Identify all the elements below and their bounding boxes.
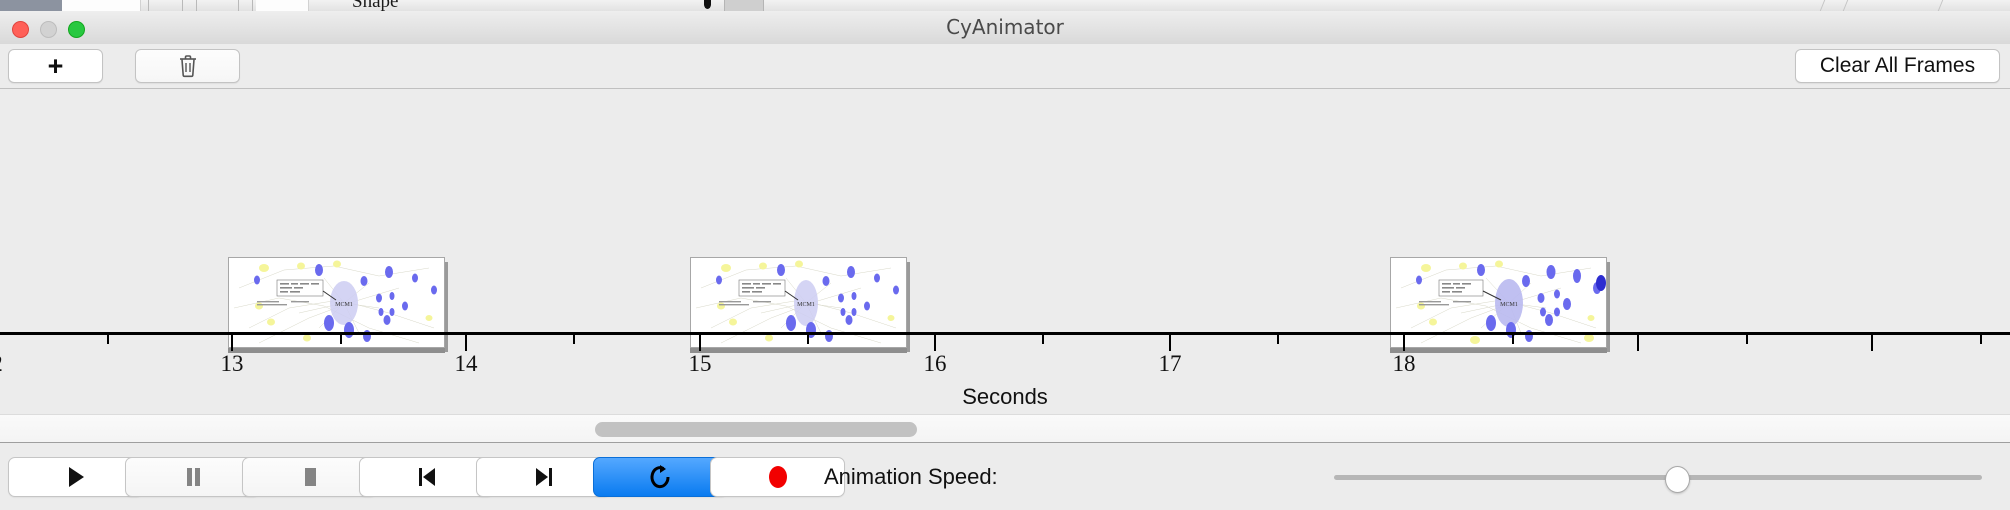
background-selected-tab bbox=[0, 0, 62, 11]
scrollbar-thumb[interactable] bbox=[595, 422, 917, 437]
slider-track[interactable] bbox=[1334, 475, 1982, 480]
ruler-label: 16 bbox=[905, 351, 965, 377]
ruler-tick-minor bbox=[107, 335, 109, 344]
background-panel bbox=[62, 0, 141, 11]
pause-icon bbox=[182, 465, 204, 489]
svg-text:MCM1: MCM1 bbox=[335, 302, 353, 308]
toolbar: + Clear All Frames bbox=[0, 44, 2010, 89]
record-icon bbox=[766, 464, 790, 490]
ruler-label: 15 bbox=[670, 351, 730, 377]
background-divider bbox=[1843, 0, 1848, 11]
loop-icon bbox=[649, 464, 673, 490]
keyframe-thumbnail[interactable]: MCM1 bbox=[690, 257, 910, 349]
animation-speed-slider[interactable] bbox=[1334, 457, 1982, 497]
ruler-tick-minor bbox=[1746, 335, 1748, 344]
ruler-tick-minor bbox=[340, 335, 342, 344]
delete-frame-button[interactable] bbox=[135, 49, 240, 83]
svg-text:MCM1: MCM1 bbox=[1500, 302, 1518, 308]
timeline-panel[interactable]: MCM1 bbox=[0, 89, 2010, 414]
title-bar: CyAnimator bbox=[0, 11, 2010, 45]
stop-button[interactable] bbox=[242, 457, 377, 497]
add-frame-button[interactable]: + bbox=[8, 49, 103, 83]
ruler-tick-major bbox=[1871, 335, 1873, 351]
skip-back-icon bbox=[415, 465, 439, 489]
stop-icon bbox=[299, 465, 321, 489]
ruler-tick-minor bbox=[1277, 335, 1279, 344]
background-marker bbox=[704, 0, 711, 9]
axis-title: Seconds bbox=[0, 384, 2010, 410]
background-divider bbox=[148, 0, 149, 11]
background-divider bbox=[182, 0, 183, 11]
ruler-label: 17 bbox=[1140, 351, 1200, 377]
ruler-tick-minor bbox=[1512, 335, 1514, 344]
ruler-tick-major bbox=[1169, 335, 1171, 351]
background-divider bbox=[252, 0, 253, 11]
background-divider bbox=[1820, 0, 1825, 11]
pause-button[interactable] bbox=[125, 457, 260, 497]
slider-thumb[interactable] bbox=[1665, 466, 1690, 493]
play-icon bbox=[65, 465, 87, 489]
play-button[interactable] bbox=[8, 457, 143, 497]
skip-to-end-button[interactable] bbox=[476, 457, 611, 497]
ruler-tick-major bbox=[934, 335, 936, 351]
skip-forward-icon bbox=[532, 465, 556, 489]
clear-all-frames-button[interactable]: Clear All Frames bbox=[1795, 49, 2000, 83]
ruler-tick-minor bbox=[807, 335, 809, 344]
ruler-label: 13 bbox=[202, 351, 262, 377]
animation-speed-label: Animation Speed: bbox=[824, 457, 998, 497]
ruler-tick-minor bbox=[1042, 335, 1044, 344]
playback-control-bar: Animation Speed: bbox=[0, 444, 2010, 510]
skip-to-start-button[interactable] bbox=[359, 457, 494, 497]
trash-icon bbox=[178, 54, 198, 78]
ruler-tick-major bbox=[1403, 335, 1405, 351]
svg-text:MCM1: MCM1 bbox=[797, 302, 815, 308]
ruler-label: 2 bbox=[0, 351, 27, 377]
cyanimator-window: Shape CyAnimator + Clear All Frames bbox=[0, 0, 2010, 510]
background-button bbox=[724, 0, 764, 11]
plus-icon: + bbox=[48, 53, 64, 80]
ruler-tick-minor bbox=[573, 335, 575, 344]
background-panel bbox=[256, 0, 309, 11]
keyframe-thumbnail[interactable]: MCM1 bbox=[228, 257, 448, 349]
loop-button[interactable] bbox=[593, 457, 728, 497]
ruler-tick-minor bbox=[1980, 335, 1982, 344]
timeline-scrollbar[interactable] bbox=[0, 414, 2010, 443]
ruler-label: 14 bbox=[436, 351, 496, 377]
ruler-tick-major bbox=[699, 335, 701, 351]
background-divider bbox=[238, 0, 239, 11]
background-divider bbox=[1938, 0, 1943, 11]
ruler-tick-major bbox=[231, 335, 233, 351]
ruler-tick-major bbox=[465, 335, 467, 351]
ruler-tick-major bbox=[1637, 335, 1639, 351]
timeline-ruler bbox=[0, 332, 2010, 335]
background-divider bbox=[196, 0, 197, 11]
window-title: CyAnimator bbox=[0, 11, 2010, 44]
keyframe-thumbnail[interactable]: MCM1 bbox=[1390, 257, 1610, 349]
ruler-label: 18 bbox=[1374, 351, 1434, 377]
